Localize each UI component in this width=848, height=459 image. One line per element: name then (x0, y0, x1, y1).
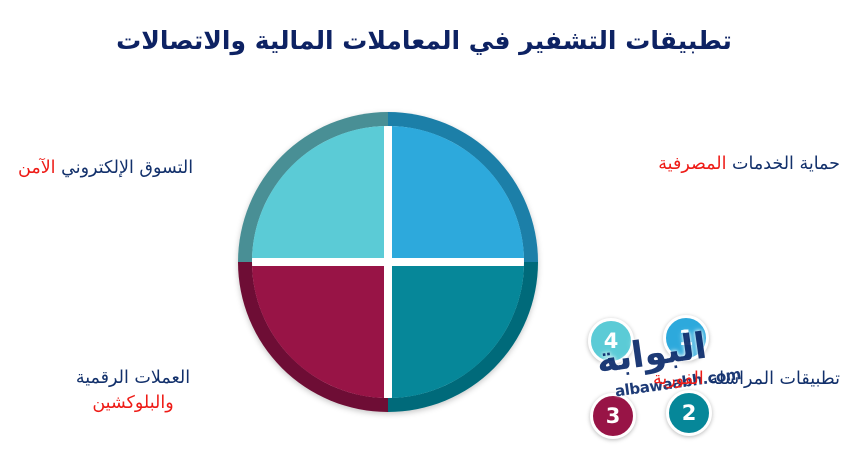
slice-label-3-plain: العملات الرقمية (8, 366, 258, 391)
pie-slice-4[interactable] (252, 126, 384, 258)
slice-label-2-accent: الفورية (653, 369, 704, 389)
slice-label-3-accent: والبلوكشين (8, 391, 258, 416)
slice-label-4-plain: التسوق الإلكتروني (61, 158, 193, 178)
slice-label-1: حماية الخدمات المصرفية (658, 152, 840, 177)
slice-number-badge-1[interactable]: 1 (663, 315, 709, 361)
slice-label-4-accent: الآمن (18, 158, 56, 178)
infographic-canvas: تطبيقات التشفير في المعاملات المالية وال… (0, 0, 848, 459)
slice-number-3: 3 (606, 404, 621, 428)
pie-chart: 1 2 3 4 البوابة albawaabh.com (238, 112, 538, 412)
page-title: تطبيقات التشفير في المعاملات المالية وال… (0, 24, 848, 58)
slice-number-1: 1 (679, 326, 694, 350)
pie-slice-1[interactable] (392, 126, 524, 258)
slice-label-2-plain: تطبيقات المراسلة (709, 369, 840, 389)
slice-number-badge-3[interactable]: 3 (590, 393, 636, 439)
slice-label-4: التسوق الإلكتروني الآمن (18, 156, 193, 181)
pie-slice-2[interactable] (392, 266, 524, 398)
pie-chart-svg (238, 112, 538, 412)
slice-label-3: العملات الرقمية والبلوكشين (8, 366, 258, 417)
slice-label-1-plain: حماية الخدمات (732, 154, 840, 174)
slice-number-4: 4 (604, 329, 619, 353)
slice-number-badge-4[interactable]: 4 (588, 318, 634, 364)
pie-slice-3[interactable] (252, 266, 384, 398)
slice-number-2: 2 (682, 401, 697, 425)
slice-label-1-accent: المصرفية (658, 154, 726, 174)
slice-label-2: تطبيقات المراسلة الفورية (653, 367, 840, 392)
slice-number-badge-2[interactable]: 2 (666, 390, 712, 436)
